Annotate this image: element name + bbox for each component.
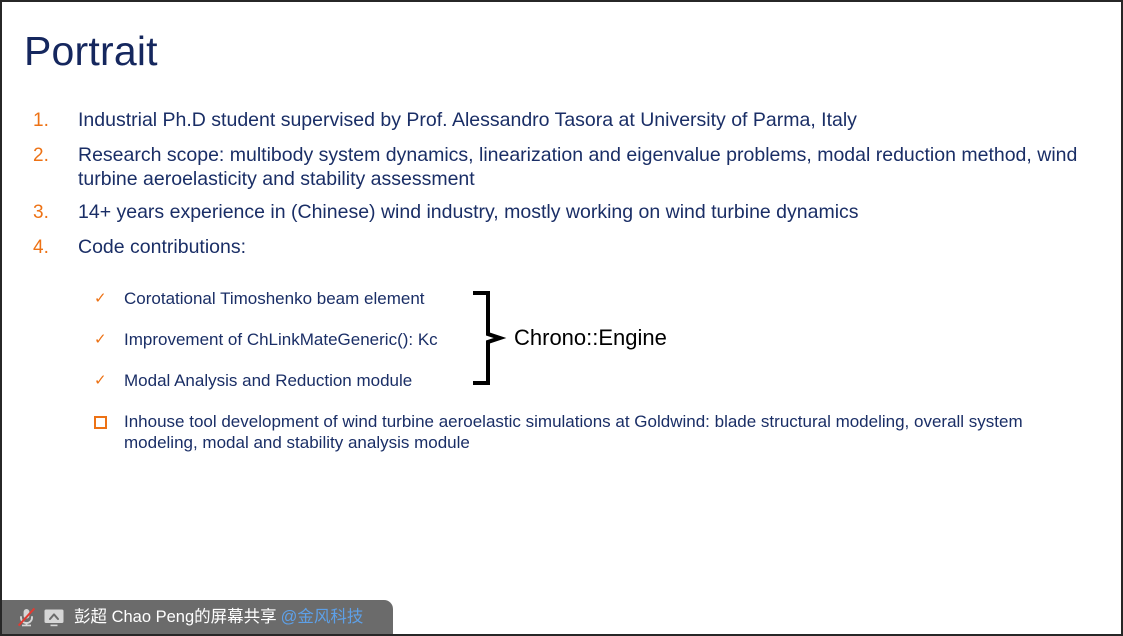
numbered-list: 1. Industrial Ph.D student supervised by… <box>30 108 1100 270</box>
list-item-marker: 1. <box>30 108 78 134</box>
list-item-marker: 2. <box>30 143 78 169</box>
brace-label: Chrono::Engine <box>514 324 667 352</box>
list-item-label: Research scope: multibody system dynamic… <box>78 143 1100 191</box>
slide-canvas: Portrait 1. Industrial Ph.D student supe… <box>0 0 1123 636</box>
check-icon: ✓ <box>94 329 124 351</box>
check-icon: ✓ <box>94 288 124 310</box>
share-org-label: @金风科技 <box>281 607 364 627</box>
list-item-label: Code contributions: <box>78 235 1100 259</box>
screen-share-icon[interactable] <box>40 605 68 629</box>
list-item-marker: 3. <box>30 200 78 226</box>
list-item: 2. Research scope: multibody system dyna… <box>30 143 1100 191</box>
sub-list-item: Inhouse tool development of wind turbine… <box>94 411 1094 453</box>
list-item: 4. Code contributions: <box>30 235 1100 261</box>
list-item: 1. Industrial Ph.D student supervised by… <box>30 108 1100 134</box>
page-title: Portrait <box>24 24 158 78</box>
brace-annotation: Chrono::Engine <box>472 290 702 386</box>
list-item-label: Industrial Ph.D student supervised by Pr… <box>78 108 1100 132</box>
check-icon: ✓ <box>94 370 124 392</box>
share-owner-label: 彭超 Chao Peng的屏幕共享 <box>74 607 277 627</box>
sub-list-item-label: Inhouse tool development of wind turbine… <box>124 411 1024 453</box>
microphone-muted-icon[interactable] <box>12 605 40 629</box>
square-bullet-icon <box>94 411 124 429</box>
list-item-label: 14+ years experience in (Chinese) wind i… <box>78 200 1100 224</box>
screen-share-status-bar[interactable]: 彭超 Chao Peng的屏幕共享 @金风科技 <box>2 600 393 634</box>
list-item: 3. 14+ years experience in (Chinese) win… <box>30 200 1100 226</box>
list-item-marker: 4. <box>30 235 78 261</box>
